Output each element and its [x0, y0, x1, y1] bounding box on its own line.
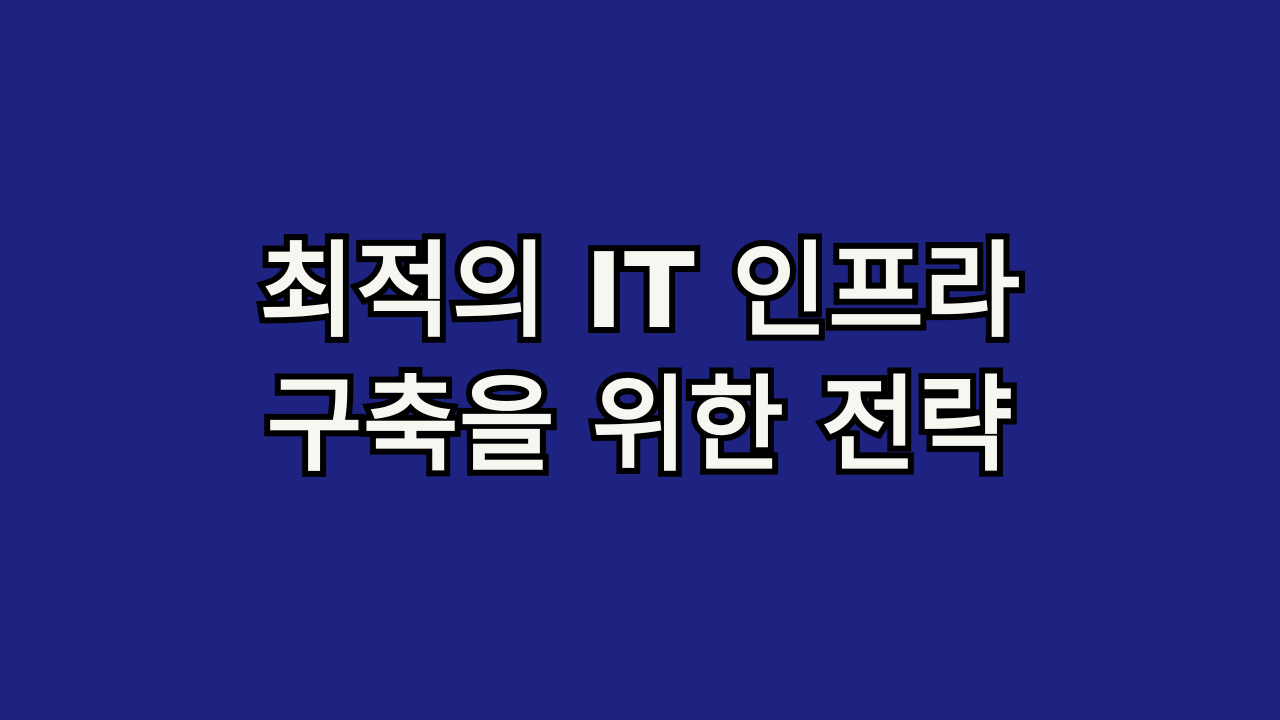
headline-line-2: 구축을 위한 전략 [267, 358, 1014, 492]
headline-block: 최적의 IT 인프라 구축을 위한 전략 [259, 224, 1020, 492]
title-card: 최적의 IT 인프라 구축을 위한 전략 [0, 0, 1280, 720]
headline-line-1: 최적의 IT 인프라 [259, 224, 1020, 358]
